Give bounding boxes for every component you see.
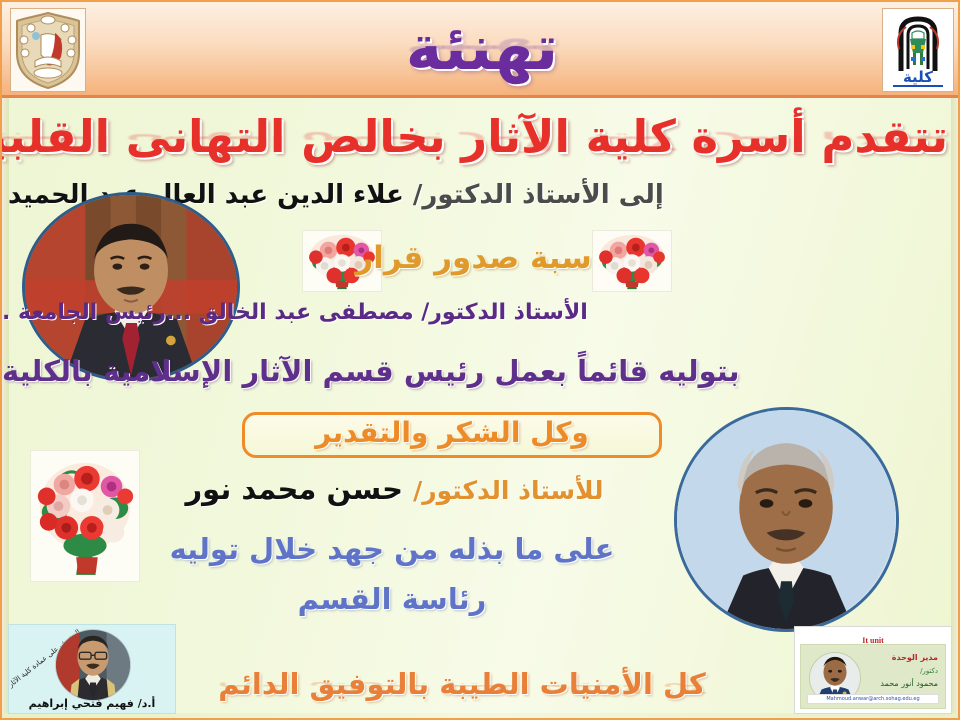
it-unit-header: It unit وحدة الاتصالات الإلكترونية كلية … <box>795 628 951 643</box>
wishes-line-reflection: كل الأمنيات الطيبة بالتوفيق الدائم <box>152 682 772 696</box>
dean-portrait-icon <box>56 630 130 700</box>
honoree-name: علاء الدين عبد العال عبد الحميد <box>8 180 404 210</box>
it-unit-email: Mahmoud.anwar@arch.sohag.edu.eg <box>807 694 939 704</box>
dean-photo <box>55 629 131 701</box>
appointment-line: بتوليه قائماً بعمل رئيس قسم الآثار الإسل… <box>2 354 944 388</box>
frame-right-edge <box>951 2 958 720</box>
rector-line: الأستاذ الدكتور/ مصطفى عبد الخالق ...رئي… <box>2 300 944 325</box>
flower-bouquet-right <box>592 230 672 292</box>
thanked-professor-line: للأستاذ الدكتور/ حسن محمد نور <box>122 472 667 506</box>
honoree-photo <box>25 195 237 379</box>
congratulation-poster: تهنئة تهنئة كلية تتقدم أسرة <box>0 0 960 720</box>
it-unit-title: دكتور/ <box>920 667 938 675</box>
thanked-prefix: للأستاذ الدكتور/ <box>413 476 603 505</box>
flower-bouquet-side <box>30 450 140 582</box>
thanked-professor-portrait <box>674 407 899 632</box>
svg-text:كلية: كلية <box>903 68 933 86</box>
faculty-logo: كلية <box>882 8 954 92</box>
it-unit-manager-name: محمود أنور محمد <box>880 679 938 688</box>
bouquet-icon <box>593 231 671 291</box>
header-band: تهنئة تهنئة كلية <box>2 2 960 98</box>
dean-name: أ.د/ فهيم فتحي إبراهيم <box>9 697 175 710</box>
it-unit-role: مدير الوحدة <box>892 653 938 662</box>
it-unit-body: مدير الوحدة دكتور/ محمود أنور محمد Mahmo… <box>800 644 946 709</box>
thanks-text: وكل الشكر والتقدير <box>242 416 662 449</box>
honoree-prefix: إلى الأستاذ الدكتور/ <box>413 180 664 210</box>
thanked-name: حسن محمد نور <box>185 472 403 506</box>
thanked-professor-photo <box>677 410 896 629</box>
page-title: تهنئة <box>2 6 960 90</box>
bouquet-icon <box>31 451 139 581</box>
it-unit-card: It unit وحدة الاتصالات الإلكترونية كلية … <box>794 626 952 714</box>
reason-line-1: على ما بذله من جهد خلال توليه <box>132 532 652 566</box>
faculty-archaeology-logo-icon: كلية <box>883 9 953 91</box>
congratulations-headline-reflection: تتقدم أسرة كلية الآثار بخالص التهانى الق… <box>12 132 948 154</box>
dean-supervisor-card: المشرف على عمادة كلية الآثار جامعة سوهاج… <box>8 624 176 714</box>
reason-line-2: رئاسة القسم <box>132 582 652 616</box>
